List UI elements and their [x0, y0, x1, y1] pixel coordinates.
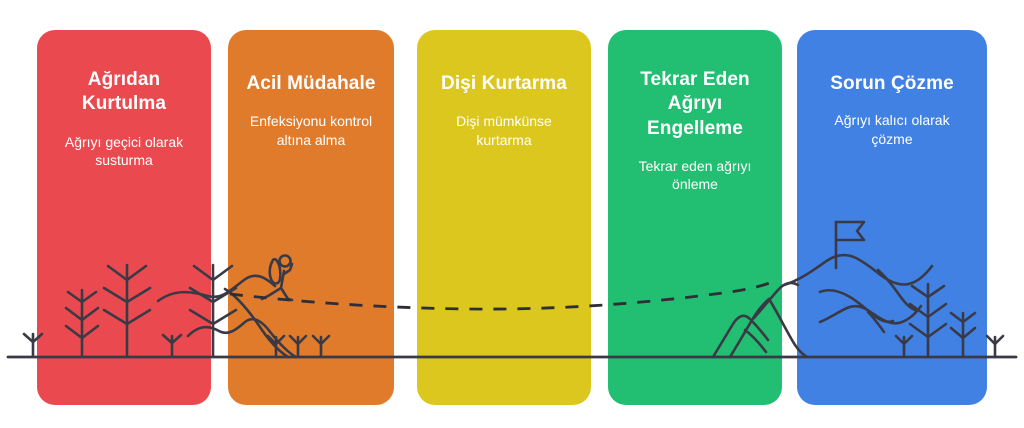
- stage-card-2[interactable]: Acil Müdahale Enfeksiyonu kontrol altına…: [228, 30, 394, 405]
- stage-card-4-title: Tekrar Eden Ağrıyı Engelleme: [640, 68, 750, 141]
- stage-card-5-title: Sorun Çözme: [830, 72, 954, 96]
- stage-card-3-description: Dişi mümkünse kurtarma: [429, 112, 579, 149]
- stage-card-1-title: Ağrıdan Kurtulma: [82, 68, 166, 117]
- stage-card-2-title: Acil Müdahale: [246, 72, 375, 96]
- stage-card-5[interactable]: Sorun Çözme Ağrıyı kalıcı olarak çözme: [797, 30, 987, 405]
- stage-card-1[interactable]: Ağrıdan Kurtulma Ağrıyı geçici olarak su…: [37, 30, 211, 405]
- stage-card-3[interactable]: Dişi Kurtarma Dişi mümkünse kurtarma: [417, 30, 591, 405]
- stage-card-5-description: Ağrıyı kalıcı olarak çözme: [810, 111, 975, 148]
- cards-layer: Ağrıdan Kurtulma Ağrıyı geçici olarak su…: [0, 0, 1024, 428]
- infographic-root: Ağrıdan Kurtulma Ağrıyı geçici olarak su…: [0, 0, 1024, 428]
- stage-card-2-description: Enfeksiyonu kontrol altına alma: [235, 112, 387, 149]
- stage-card-4-description: Tekrar eden ağrıyı önleme: [618, 157, 773, 194]
- stage-card-3-title: Dişi Kurtarma: [441, 72, 567, 96]
- stage-card-4[interactable]: Tekrar Eden Ağrıyı Engelleme Tekrar eden…: [608, 30, 782, 405]
- stage-card-1-description: Ağrıyı geçici olarak susturma: [47, 133, 202, 170]
